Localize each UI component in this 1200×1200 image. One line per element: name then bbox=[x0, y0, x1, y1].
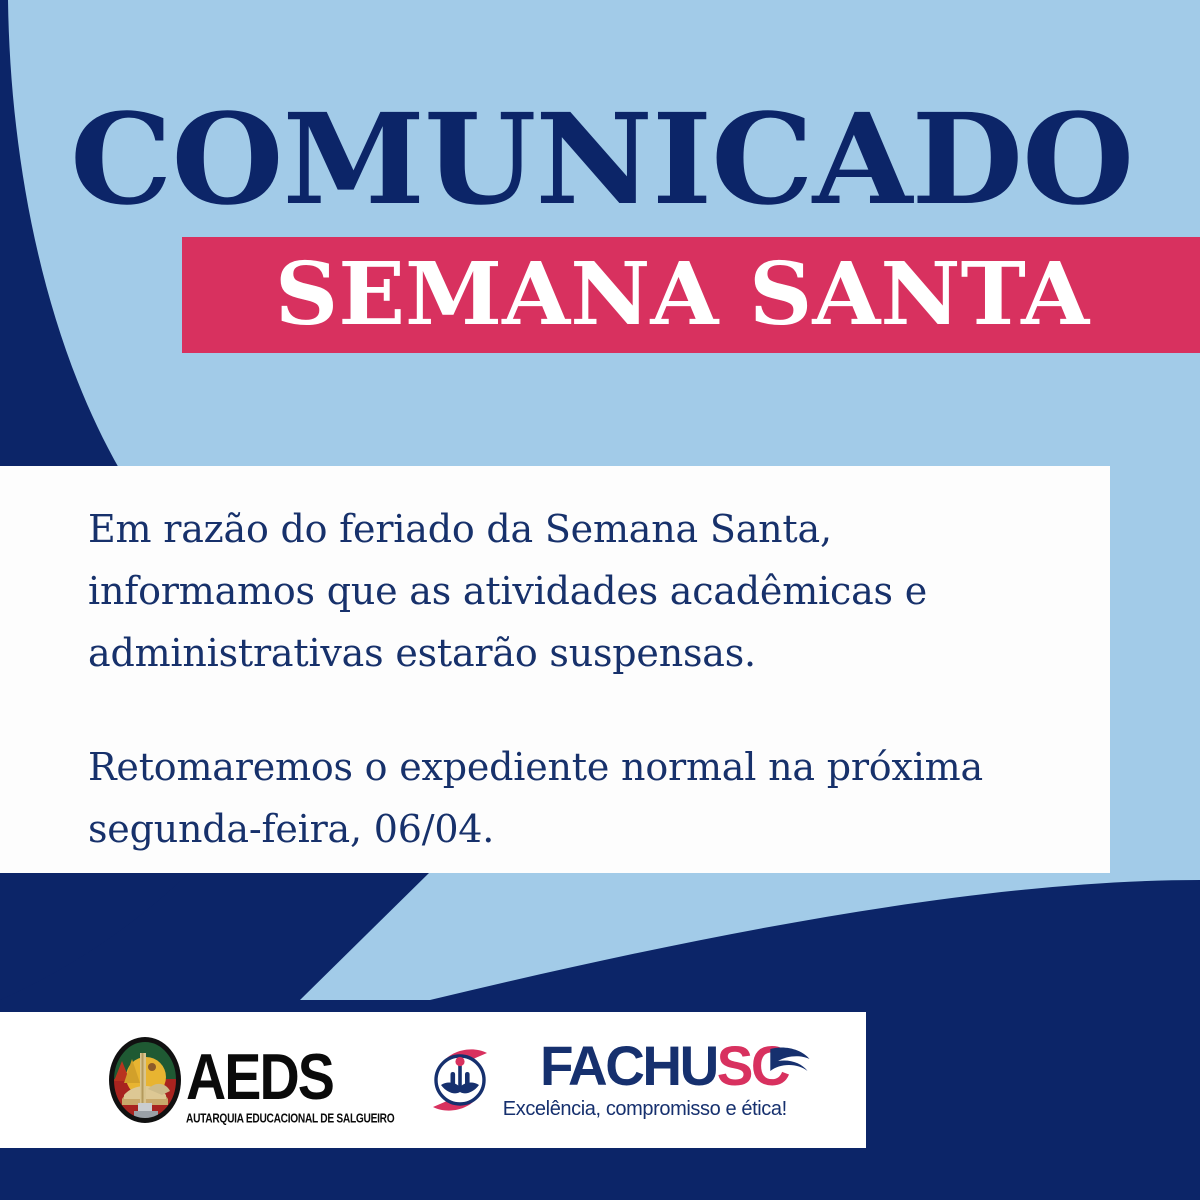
aeds-crest-icon bbox=[108, 1037, 182, 1123]
message-paragraph-1: Em razão do feriado da Semana Santa, inf… bbox=[88, 498, 1050, 684]
footer-logo-bar: AEDS AUTARQUIA EDUCACIONAL DE SALGUEIRO bbox=[0, 1012, 866, 1148]
message-card: Em razão do feriado da Semana Santa, inf… bbox=[0, 466, 1110, 873]
fachusc-wordmark: FACHUSC Excelência, compromisso e ética! bbox=[503, 1039, 793, 1121]
fachusc-tagline: Excelência, compromisso e ética! bbox=[503, 1097, 787, 1121]
flyer-canvas: COMUNICADO SEMANA SANTA Em razão do feri… bbox=[0, 0, 1200, 1200]
fachusc-name: FACHUSC bbox=[540, 1039, 788, 1093]
aeds-tagline: AUTARQUIA EDUCACIONAL DE SALGUEIRO bbox=[186, 1111, 394, 1126]
logo-group: AEDS AUTARQUIA EDUCACIONAL DE SALGUEIRO bbox=[108, 1037, 793, 1123]
message-card-content: Em razão do feriado da Semana Santa, inf… bbox=[88, 498, 1050, 860]
fachusc-name-part-2-wrap: SC bbox=[716, 1039, 787, 1093]
subtitle-banner: SEMANA SANTA bbox=[182, 237, 1200, 353]
page-title: COMUNICADO bbox=[70, 96, 1162, 224]
aeds-wordmark: AEDS AUTARQUIA EDUCACIONAL DE SALGUEIRO bbox=[186, 1054, 401, 1123]
subtitle-text: SEMANA SANTA bbox=[172, 237, 1192, 353]
aeds-name: AEDS bbox=[186, 1048, 333, 1108]
fachusc-swoosh-icon bbox=[768, 1041, 813, 1087]
fachusc-name-part-1: FACHU bbox=[540, 1039, 717, 1093]
aeds-logo: AEDS AUTARQUIA EDUCACIONAL DE SALGUEIRO bbox=[108, 1037, 401, 1123]
fachusc-logo: FACHUSC Excelência, compromisso e ética! bbox=[427, 1039, 793, 1121]
message-paragraph-2: Retomaremos o expediente normal na próxi… bbox=[88, 736, 1050, 860]
fachusc-book-icon bbox=[427, 1047, 493, 1113]
